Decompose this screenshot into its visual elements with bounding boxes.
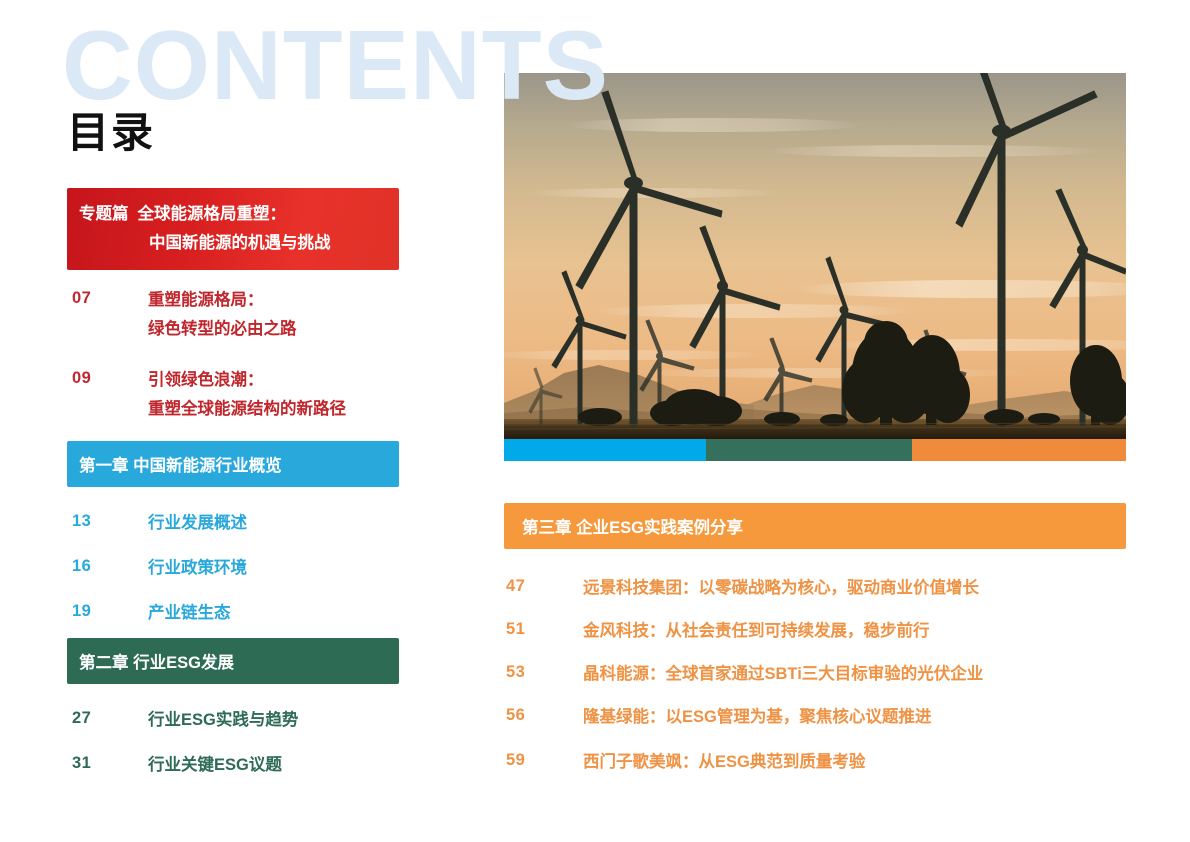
left-column: 专题篇全球能源格局重塑： 中国新能源的机遇与挑战 07 重塑能源格局： 绿色转型… (0, 0, 470, 842)
contents-page: CONTENTS 目录 专题篇全球能源格局重塑： 中国新能源的机遇与挑战 07 … (0, 0, 1190, 842)
toc-page-number: 47 (506, 574, 583, 596)
section-banner-chapter3[interactable]: 第三章 企业ESG实践案例分享 (504, 503, 1126, 549)
toc-entry-09[interactable]: 09 引领绿色浪潮： 重塑全球能源结构的新路径 (72, 366, 346, 424)
toc-entry-19[interactable]: 19 产业链生态 (72, 599, 231, 628)
chapter3-title: 企业ESG实践案例分享 (576, 519, 743, 537)
toc-entry-16[interactable]: 16 行业政策环境 (72, 554, 247, 583)
toc-entry-label: 行业ESG实践与趋势 (148, 706, 298, 735)
toc-entry-47[interactable]: 47 远景科技集团：以零碳战略为核心，驱动商业价值增长 (506, 574, 979, 603)
color-bar-segment-orange (912, 439, 1126, 461)
chapter1-title: 中国新能源行业概览 (133, 457, 282, 475)
toc-entry-label-line2: 绿色转型的必由之路 (148, 315, 297, 344)
toc-entry-59[interactable]: 59 西门子歌美飒：从ESG典范到质量考验 (506, 748, 865, 777)
toc-entry-31[interactable]: 31 行业关键ESG议题 (72, 751, 282, 780)
toc-entry-label-line1: 重塑能源格局： (148, 291, 264, 309)
toc-entry-label: 西门子歌美飒：从ESG典范到质量考验 (583, 748, 865, 777)
toc-entry-label: 远景科技集团：以零碳战略为核心，驱动商业价值增长 (583, 574, 979, 603)
feature-title-line2: 中国新能源的机遇与挑战 (79, 229, 399, 258)
feature-tag: 专题篇 (79, 205, 138, 223)
chapter1-tag: 第一章 (79, 457, 129, 475)
toc-entry-label: 重塑能源格局： 绿色转型的必由之路 (148, 286, 297, 344)
toc-entry-label: 隆基绿能：以ESG管理为基，聚焦核心议题推进 (583, 703, 931, 732)
toc-page-number: 13 (72, 509, 148, 531)
section-banner-chapter2[interactable]: 第二章 行业ESG发展 (67, 638, 399, 684)
toc-page-number: 27 (72, 706, 148, 728)
wind-farm-photo (504, 73, 1126, 439)
chapter2-title: 行业ESG发展 (133, 654, 234, 672)
toc-entry-51[interactable]: 51 金风科技：从社会责任到可持续发展，稳步前行 (506, 617, 930, 646)
chapter3-tag: 第三章 (522, 519, 572, 537)
toc-entry-label: 引领绿色浪潮： 重塑全球能源结构的新路径 (148, 366, 346, 424)
section-banner-chapter1[interactable]: 第一章 中国新能源行业概览 (67, 441, 399, 487)
toc-page-number: 19 (72, 599, 148, 621)
toc-entry-label: 金风科技：从社会责任到可持续发展，稳步前行 (583, 617, 930, 646)
toc-page-number: 31 (72, 751, 148, 773)
chapter2-tag: 第二章 (79, 654, 129, 672)
toc-entry-label: 行业发展概述 (148, 509, 247, 538)
photo-color-bar (504, 439, 1126, 461)
toc-entry-label-line1: 引领绿色浪潮： (148, 371, 264, 389)
toc-entry-label: 行业政策环境 (148, 554, 247, 583)
color-bar-segment-blue (504, 439, 706, 461)
toc-page-number: 16 (72, 554, 148, 576)
section-banner-feature[interactable]: 专题篇全球能源格局重塑： 中国新能源的机遇与挑战 (67, 188, 399, 270)
toc-entry-label-line2: 重塑全球能源结构的新路径 (148, 395, 346, 424)
color-bar-segment-green (706, 439, 912, 461)
feature-title-line1: 全球能源格局重塑： (138, 205, 287, 223)
toc-entry-label: 晶科能源：全球首家通过SBTi三大目标审验的光伏企业 (583, 660, 983, 689)
toc-entry-label: 行业关键ESG议题 (148, 751, 282, 780)
toc-entry-53[interactable]: 53 晶科能源：全球首家通过SBTi三大目标审验的光伏企业 (506, 660, 983, 689)
toc-entry-07[interactable]: 07 重塑能源格局： 绿色转型的必由之路 (72, 286, 297, 344)
toc-page-number: 09 (72, 366, 148, 388)
toc-entry-label: 产业链生态 (148, 599, 231, 628)
toc-entry-27[interactable]: 27 行业ESG实践与趋势 (72, 706, 298, 735)
toc-entry-56[interactable]: 56 隆基绿能：以ESG管理为基，聚焦核心议题推进 (506, 703, 931, 732)
toc-page-number: 07 (72, 286, 148, 308)
toc-page-number: 59 (506, 748, 583, 770)
toc-page-number: 53 (506, 660, 583, 682)
toc-page-number: 56 (506, 703, 583, 725)
toc-entry-13[interactable]: 13 行业发展概述 (72, 509, 247, 538)
toc-page-number: 51 (506, 617, 583, 639)
